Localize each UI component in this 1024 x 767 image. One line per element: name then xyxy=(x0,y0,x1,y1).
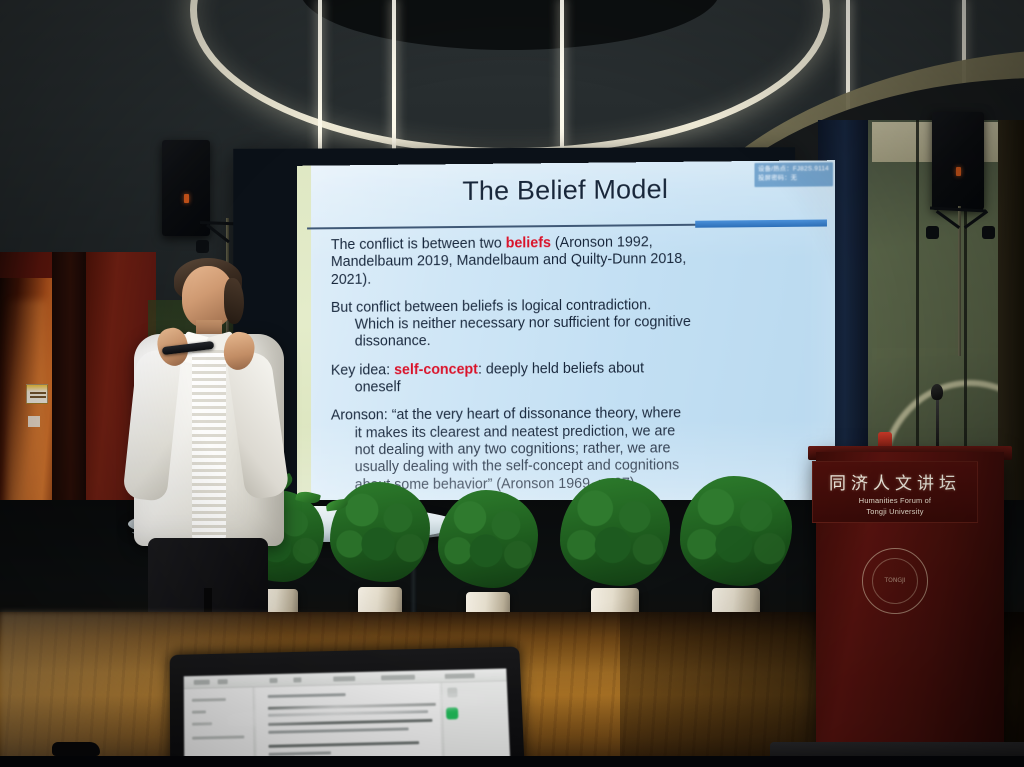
plant-foliage-3 xyxy=(438,490,538,588)
slide-text-segment: The conflict is between two xyxy=(331,236,506,254)
laptop-screen[interactable] xyxy=(184,668,511,767)
truss-node-left-1 xyxy=(196,240,209,253)
microphone-icon xyxy=(931,384,943,400)
toolbar-chip-6[interactable] xyxy=(381,675,415,681)
projector-device-line: 设备/热点：FJ82S.9114 xyxy=(758,164,829,174)
plant-foliage-4 xyxy=(560,478,670,586)
slide-text-segment: dissonance. xyxy=(355,334,431,351)
slide-divider xyxy=(307,218,827,231)
lecture-hall-photo: The Belief Model The conflict is between… xyxy=(0,0,1024,767)
projector-info-overlay: 设备/热点：FJ82S.9114 投屏密码：无 xyxy=(754,162,833,186)
slide-text-segment: 2021). xyxy=(331,271,371,287)
slide-keyword: beliefs xyxy=(506,235,551,251)
toolbar-chip-2[interactable] xyxy=(218,679,228,684)
sidebar-line-2 xyxy=(192,710,206,713)
slide-text-segment: But conflict between beliefs is logical … xyxy=(331,297,651,316)
projector-password-line: 投屏密码：无 xyxy=(758,174,829,184)
slide-text-segment: : deeply held beliefs about xyxy=(478,360,644,377)
slide-text-segment: Mandelbaum 2019, Mandelbaum and Quilty-D… xyxy=(331,251,686,270)
toolbar-chip-1[interactable] xyxy=(194,680,210,685)
seal-inner-text: TONGJI xyxy=(872,558,918,604)
slide-line-2-3: dissonance. xyxy=(331,330,827,351)
plant-foliage-2 xyxy=(330,482,430,582)
corridor-sign xyxy=(26,384,48,404)
doc-line-6 xyxy=(269,741,420,748)
presenter-shirt-placket xyxy=(192,350,226,540)
toolbar-chip-4[interactable] xyxy=(293,677,301,682)
slide-body-text: The conflict is between two beliefs (Aro… xyxy=(331,233,827,506)
lectern-chinese-name: 同济人文讲坛 xyxy=(829,469,961,494)
doc-line-5 xyxy=(268,727,408,733)
slide-paragraph-2: But conflict between beliefs is logical … xyxy=(331,296,827,352)
speaker-led-left xyxy=(184,194,189,203)
slide-line-3-2: oneself xyxy=(331,376,827,397)
document-page[interactable] xyxy=(256,683,442,767)
truss-node-right-1 xyxy=(926,226,939,239)
corridor-sign-text xyxy=(30,392,46,400)
slide-text-segment: Key idea: xyxy=(331,362,394,378)
speaker-led-right xyxy=(956,167,961,176)
slide-paragraph-1: The conflict is between two beliefs (Aro… xyxy=(331,233,827,289)
lectern-nameplate: 同济人文讲坛 Humanities Forum of Tongji Univer… xyxy=(812,461,978,523)
sidebar-line-1 xyxy=(192,698,226,702)
presentation-slide[interactable]: The Belief Model The conflict is between… xyxy=(297,160,835,512)
ceiling-speaker-right xyxy=(932,112,984,210)
truss-node-right-2 xyxy=(982,226,995,239)
presenter-hair-side xyxy=(224,278,244,324)
slide-text-segment: Which is neither necessary nor sufficien… xyxy=(355,314,691,333)
slide-divider-accent-bar xyxy=(695,219,827,227)
plant-foliage-5 xyxy=(680,476,792,586)
slide-text-segment: not dealing with any two cognitions; rat… xyxy=(355,440,671,458)
toolbar-chip-5[interactable] xyxy=(333,676,355,681)
slide-text-segment: oneself xyxy=(355,379,401,395)
toolbar-chip-7[interactable] xyxy=(445,673,475,679)
sidebar-line-4 xyxy=(192,735,244,739)
slide-text-segment: it makes its clearest and neatest predic… xyxy=(355,423,675,441)
bottom-dark-edge xyxy=(0,756,1024,767)
slide-keyword: self-concept xyxy=(394,361,478,378)
corridor-sign-secondary xyxy=(28,416,40,427)
presenter-shoe xyxy=(52,742,100,756)
slide-text-segment: (Aronson 1992, xyxy=(551,234,653,251)
doc-line-1 xyxy=(268,693,346,698)
slide-paragraph-3: Key idea: self-concept: deeply held beli… xyxy=(331,359,827,397)
lectern-english-line2: Tongji University xyxy=(866,507,923,516)
tongji-university-seal-icon: TONGJI xyxy=(862,548,928,614)
toolbar-chip-3[interactable] xyxy=(269,678,277,683)
slide-text-segment: Aronson: “at the very heart of dissonanc… xyxy=(331,406,681,424)
foreground-laptop[interactable] xyxy=(170,647,525,767)
lectern-english-line1: Humanities Forum of xyxy=(859,496,931,505)
microphone-stem xyxy=(936,392,939,452)
slide-text-segment: usually dealing with the self-concept an… xyxy=(355,458,680,476)
